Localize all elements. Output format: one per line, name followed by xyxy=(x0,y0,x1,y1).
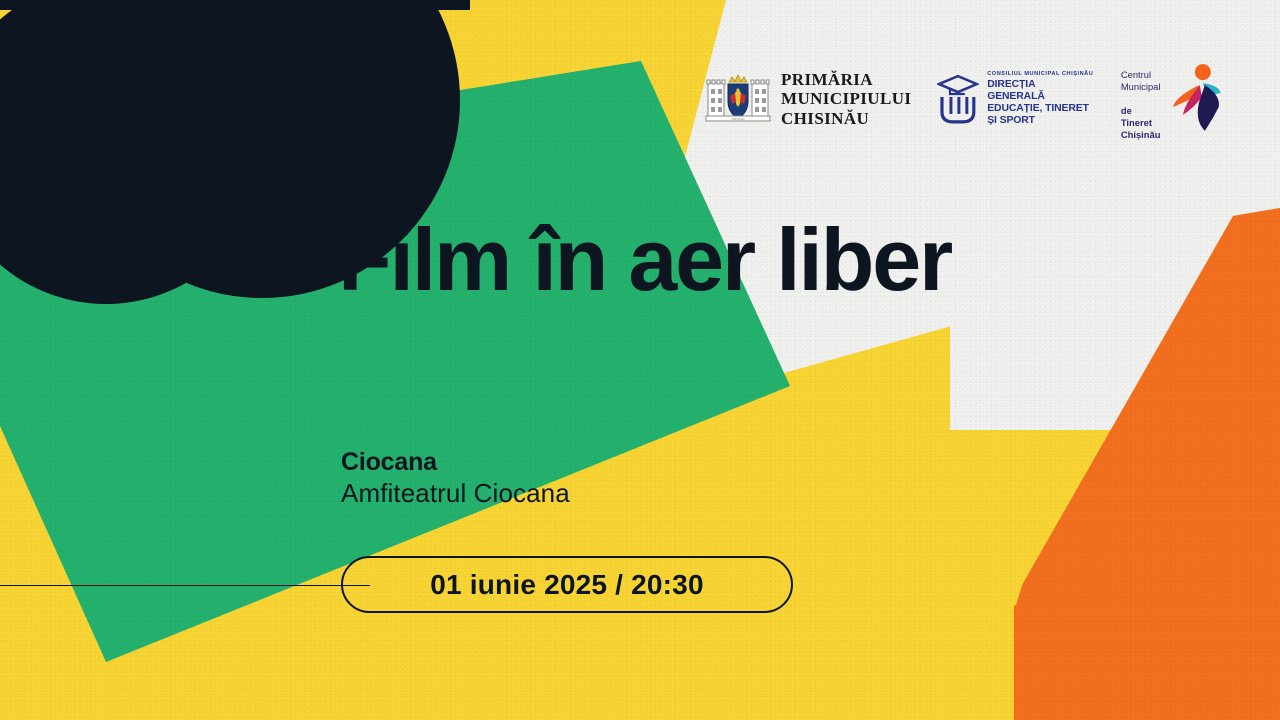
abstract-figure-icon xyxy=(1169,63,1225,135)
page-title: Film în aer liber xyxy=(338,218,958,302)
logo-primaria-text: PRIMĂRIA MUNICIPIULUI CHISINĂU xyxy=(781,70,911,127)
logo-directia-generala-educatie: CONSILIUL MUNICIPAL CHIȘINĂU DIRECȚIA GE… xyxy=(937,71,1094,127)
logo-primaria-municipiului-chisinau: CHISINAU PRIMĂRIA MUNICIPIULUI CHISINĂU xyxy=(705,70,911,127)
logo-cmt-light: Centrul Municipal xyxy=(1121,69,1161,92)
graduation-cap-icon xyxy=(937,72,979,126)
venue-place: Amfiteatrul Ciocana xyxy=(341,477,570,510)
event-poster: Film în aer liber Ciocana Amfiteatrul Ci… xyxy=(0,0,1280,720)
svg-text:CHISINAU: CHISINAU xyxy=(731,117,746,121)
chisinau-coat-of-arms-icon: CHISINAU xyxy=(705,73,771,125)
horizontal-rule xyxy=(0,585,370,586)
logo-dgets-eyebrow: CONSILIUL MUNICIPAL CHIȘINĂU xyxy=(987,71,1095,77)
logo-cmt-text: Centrul Municipal de Tineret Chișinău xyxy=(1121,57,1165,141)
venue-block: Ciocana Amfiteatrul Ciocana xyxy=(341,447,570,510)
date-time-badge: 01 iunie 2025 / 20:30 xyxy=(341,556,793,613)
venue-sector: Ciocana xyxy=(341,447,570,477)
logo-cmt-bold: de Tineret Chișinău xyxy=(1121,105,1161,140)
logo-centrul-municipal-de-tineret: Centrul Municipal de Tineret Chișinău xyxy=(1121,57,1225,141)
logo-dgets-text: CONSILIUL MUNICIPAL CHIȘINĂU DIRECȚIA GE… xyxy=(987,71,1095,127)
logo-dgets-main: DIRECȚIA GENERALĂ EDUCAȚIE, TINERET ȘI S… xyxy=(987,79,1095,127)
sponsor-logo-strip: CHISINAU PRIMĂRIA MUNICIPIULUI CHISINĂU xyxy=(705,56,1225,142)
